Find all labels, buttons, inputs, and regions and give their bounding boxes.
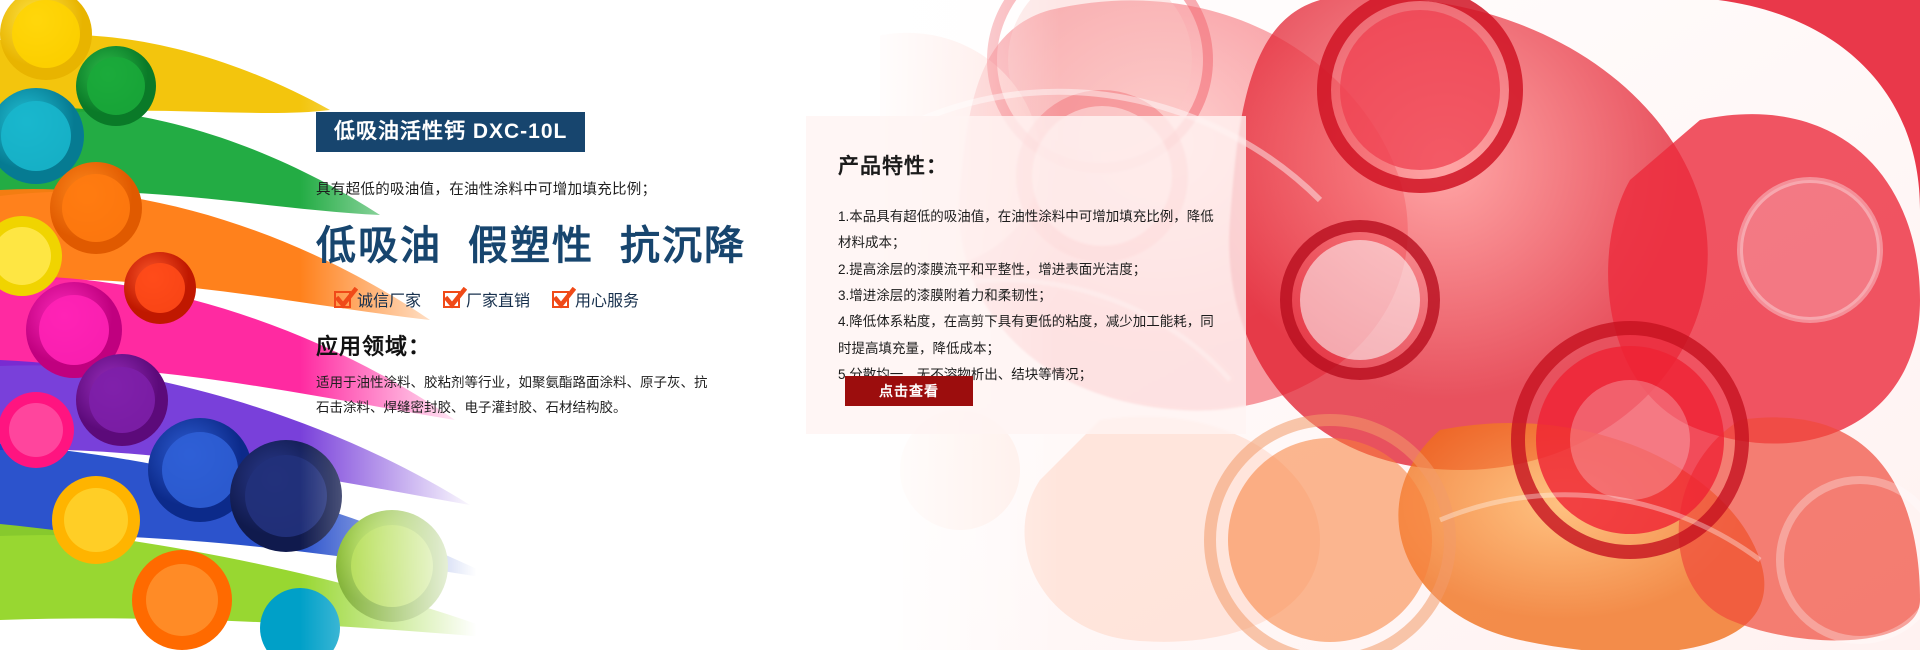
product-subtitle: 具有超低的吸油值，在油性涂料中可增加填充比例；	[316, 178, 736, 199]
application-section-body: 适用于油性涂料、胶粘剂等行业，如聚氨酯路面涂料、原子灰、抗石击涂料、焊缝密封胶、…	[316, 371, 716, 421]
headline-keyword-3: 抗沉降	[620, 223, 746, 268]
feature-item: 2.提高涂层的漆膜流平和平整性，增进表面光洁度；	[838, 257, 1216, 283]
features-list: 1.本品具有超低的吸油值，在油性涂料中可增加填充比例，降低材料成本； 2.提高涂…	[838, 204, 1216, 388]
headline-keyword-1: 低吸油	[316, 223, 442, 268]
check-icon	[443, 291, 460, 308]
check-icon	[334, 291, 351, 308]
trust-badge-2: 厂家直销	[443, 287, 530, 311]
headline-keyword-2: 假塑性	[468, 223, 594, 268]
feature-item: 1.本品具有超低的吸油值，在油性涂料中可增加填充比例，降低材料成本；	[838, 204, 1216, 257]
trust-badge-3: 用心服务	[552, 287, 639, 311]
feature-item: 3.增进涂层的漆膜附着力和柔韧性；	[838, 283, 1216, 309]
trust-badge-label-3: 用心服务	[575, 287, 639, 311]
trust-badge-1: 诚信厂家	[334, 287, 421, 311]
features-panel-title: 产品特性：	[838, 150, 1216, 180]
product-banner: 低吸油活性钙 DXC-10L 具有超低的吸油值，在油性涂料中可增加填充比例； 低…	[0, 0, 1920, 650]
trust-badge-label-2: 厂家直销	[466, 287, 530, 311]
check-icon	[552, 291, 569, 308]
trust-badge-label-1: 诚信厂家	[357, 287, 421, 311]
left-copy-block: 低吸油活性钙 DXC-10L 具有超低的吸油值，在油性涂料中可增加填充比例； 低…	[316, 112, 736, 421]
view-details-button[interactable]: 点击查看	[845, 376, 973, 406]
feature-item: 4.降低体系粘度，在高剪下具有更低的粘度，减少加工能耗，同时提高填充量，降低成本…	[838, 309, 1216, 362]
headline-keywords: 低吸油假塑性抗沉降	[316, 213, 736, 271]
application-section-title: 应用领域：	[316, 329, 736, 361]
trust-badges: 诚信厂家 厂家直销 用心服务	[334, 287, 736, 311]
product-name-tag: 低吸油活性钙 DXC-10L	[316, 112, 585, 152]
